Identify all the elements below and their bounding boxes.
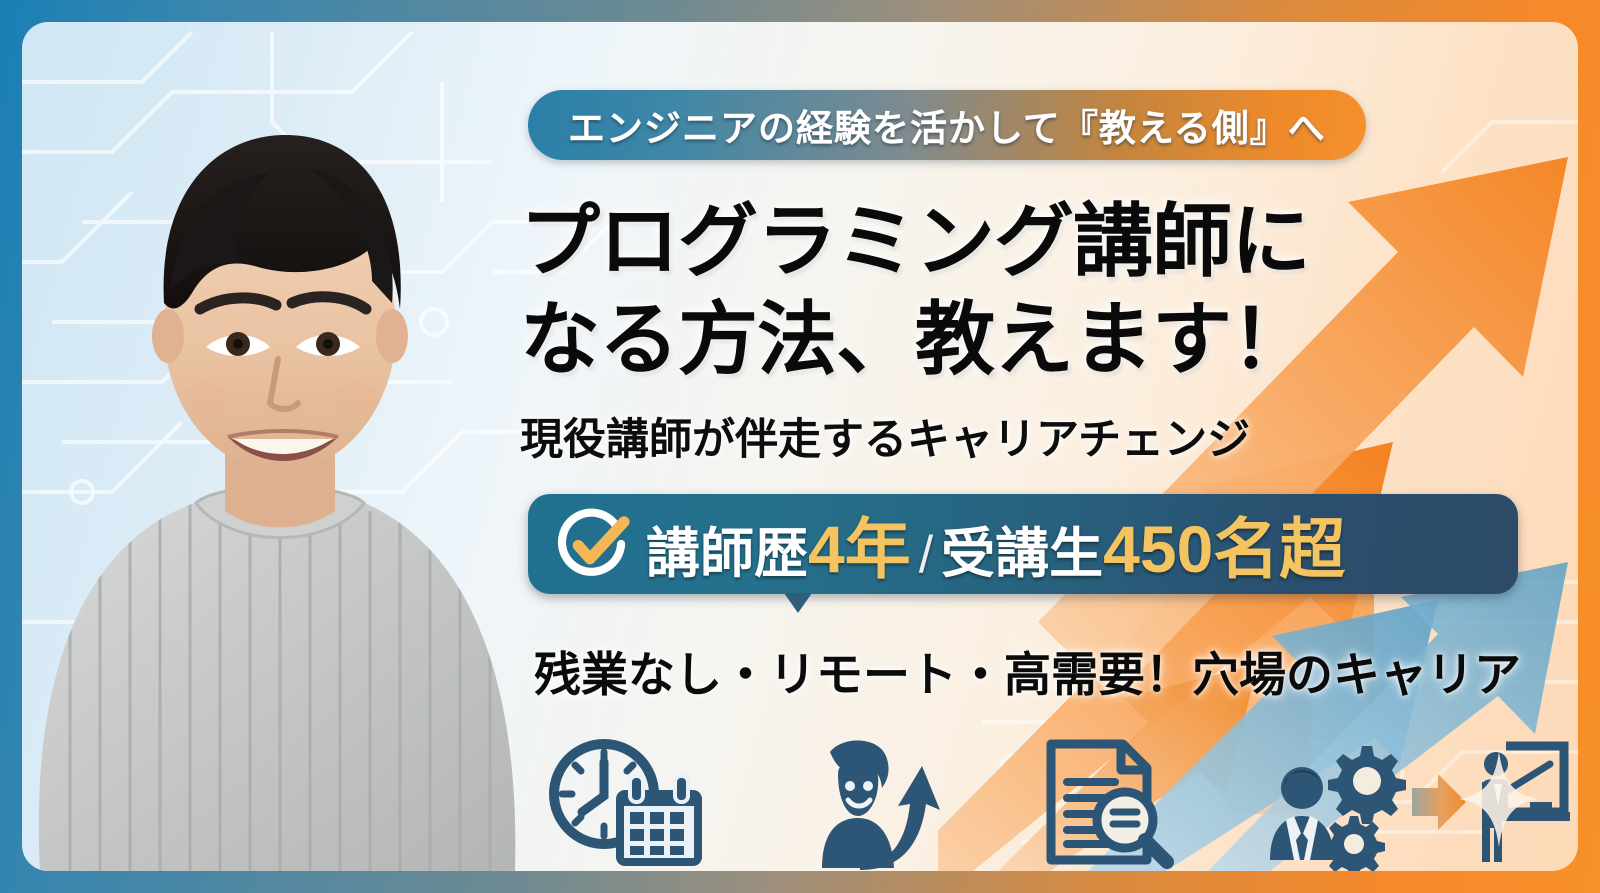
banner-panel: エンジニアの経験を活かして『教える側』へ プログラミング講師に なる方法、教えま… — [22, 22, 1578, 871]
gear-small — [1323, 816, 1385, 871]
icon-cell-growth — [802, 727, 952, 871]
headline-line-1: プログラミング講師に — [520, 202, 1310, 282]
stats-text: 講師歴 4年 / 受講生 450名超 — [646, 496, 1345, 592]
person-growth-arrow-icon — [802, 732, 952, 871]
eyebrow-badge: エンジニアの経験を活かして『教える側』へ — [528, 90, 1366, 160]
headline-line-2: なる方法、教えます！ — [520, 300, 1310, 380]
stats-value-2: 450名超 — [1103, 496, 1345, 592]
icon-cell-no-overtime — [542, 727, 717, 871]
document-magnifier-icon — [1037, 732, 1177, 871]
instructor-photo — [22, 22, 560, 871]
instructor-portrait — [22, 41, 560, 871]
clock-calendar-icon — [542, 732, 717, 871]
eyebrow-text: エンジニアの経験を活かして『教える側』へ — [568, 98, 1326, 152]
stats-label-2: 受講生 — [941, 509, 1103, 588]
pointer-triangle-icon — [784, 593, 812, 613]
stats-value-1: 4年 — [808, 496, 911, 592]
subtitle: 現役講師が伴走するキャリアチェンジ — [520, 405, 1250, 467]
gear-large — [1328, 746, 1406, 824]
promo-banner: エンジニアの経験を活かして『教える側』へ プログラミング講師に なる方法、教えま… — [0, 0, 1600, 893]
stats-label-1: 講師歴 — [646, 509, 808, 588]
icon-cell-research — [1037, 727, 1177, 871]
stats-separator: / — [911, 525, 941, 585]
tagline: 残業なし・リモート・高需要！穴場のキャリア — [534, 636, 1521, 705]
sparkle-icon — [1456, 751, 1542, 847]
calendar-glyph — [616, 776, 702, 866]
check-circle-icon — [556, 507, 630, 581]
stats-banner: 講師歴 4年 / 受講生 450名超 — [528, 494, 1518, 594]
banner-content: エンジニアの経験を活かして『教える側』へ プログラミング講師に なる方法、教えま… — [506, 22, 1578, 871]
benefit-icon-row — [542, 722, 1572, 871]
